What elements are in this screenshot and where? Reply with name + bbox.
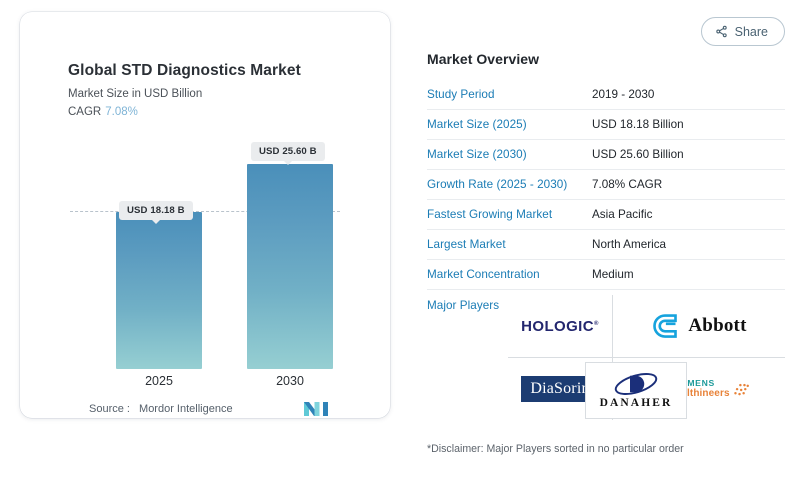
abbott-symbol-icon xyxy=(651,312,679,340)
row-label-largest-market: Largest Market xyxy=(427,238,592,251)
market-snapshot-page: Global STD Diagnostics Market Market Siz… xyxy=(0,0,800,482)
danaher-logo-text: DANAHER xyxy=(600,397,673,409)
logo-cell-hologic: HOLOGIC® xyxy=(508,295,612,357)
bar-value-label-2030: USD 25.60 B xyxy=(251,142,325,161)
table-row: Market Size (2030) USD 25.60 Billion xyxy=(427,140,785,170)
source-line: Source : Mordor Intelligence xyxy=(89,403,233,415)
table-row: Market Concentration Medium xyxy=(427,260,785,290)
row-value-market-size-2030: USD 25.60 Billion xyxy=(592,148,684,161)
mordor-intelligence-logo-icon xyxy=(303,400,329,417)
bar-2025 xyxy=(116,212,202,369)
table-row: Fastest Growing Market Asia Pacific xyxy=(427,200,785,230)
x-axis-tick-2025: 2025 xyxy=(116,374,202,388)
row-label-market-size-2025: Market Size (2025) xyxy=(427,118,592,131)
share-icon xyxy=(715,25,728,38)
row-label-growth-rate: Growth Rate (2025 - 2030) xyxy=(427,178,592,191)
row-value-fastest-growing-market: Asia Pacific xyxy=(592,208,652,221)
row-value-study-period: 2019 - 2030 xyxy=(592,88,654,101)
row-label-fastest-growing-market: Fastest Growing Market xyxy=(427,208,592,221)
abbott-logo-text: Abbott xyxy=(688,315,746,337)
abbott-logo: Abbott xyxy=(651,312,746,340)
row-label-market-size-2030: Market Size (2030) xyxy=(427,148,592,161)
bar-value-label-2025: USD 18.18 B xyxy=(119,201,193,220)
chart-card: Global STD Diagnostics Market Market Siz… xyxy=(20,12,390,418)
market-overview-table: Study Period 2019 - 2030 Market Size (20… xyxy=(427,80,785,320)
row-value-largest-market: North America xyxy=(592,238,666,251)
table-row: Largest Market North America xyxy=(427,230,785,260)
share-button[interactable]: Share xyxy=(701,17,785,46)
source-name: Mordor Intelligence xyxy=(139,403,233,415)
danaher-symbol-icon xyxy=(612,372,660,396)
disclaimer-text: *Disclaimer: Major Players sorted in no … xyxy=(427,443,684,455)
siemens-dots-icon xyxy=(732,381,752,399)
hologic-logo: HOLOGIC® xyxy=(521,318,599,335)
x-axis-tick-2030: 2030 xyxy=(247,374,333,388)
bar-2030 xyxy=(247,164,333,369)
row-value-market-size-2025: USD 18.18 Billion xyxy=(592,118,684,131)
market-overview-title: Market Overview xyxy=(427,51,539,67)
diasorin-logo-text: DiaSorin xyxy=(530,380,589,397)
table-row: Market Size (2025) USD 18.18 Billion xyxy=(427,110,785,140)
table-row: Growth Rate (2025 - 2030) 7.08% CAGR xyxy=(427,170,785,200)
share-button-label: Share xyxy=(735,25,768,39)
bar-chart-plot: USD 18.18 B USD 25.60 B 2025 2030 xyxy=(20,12,390,418)
row-value-growth-rate: 7.08% CAGR xyxy=(592,178,662,191)
row-value-market-concentration: Medium xyxy=(592,268,634,281)
hologic-registered-mark: ® xyxy=(594,321,599,327)
source-label: Source : xyxy=(89,403,130,415)
hologic-logo-text: HOLOGIC xyxy=(521,318,594,335)
table-row: Study Period 2019 - 2030 xyxy=(427,80,785,110)
row-label-market-concentration: Market Concentration xyxy=(427,268,592,281)
logo-cell-danaher: DANAHER xyxy=(585,362,687,419)
row-label-study-period: Study Period xyxy=(427,88,592,101)
logo-cell-abbott: Abbott xyxy=(613,295,785,357)
